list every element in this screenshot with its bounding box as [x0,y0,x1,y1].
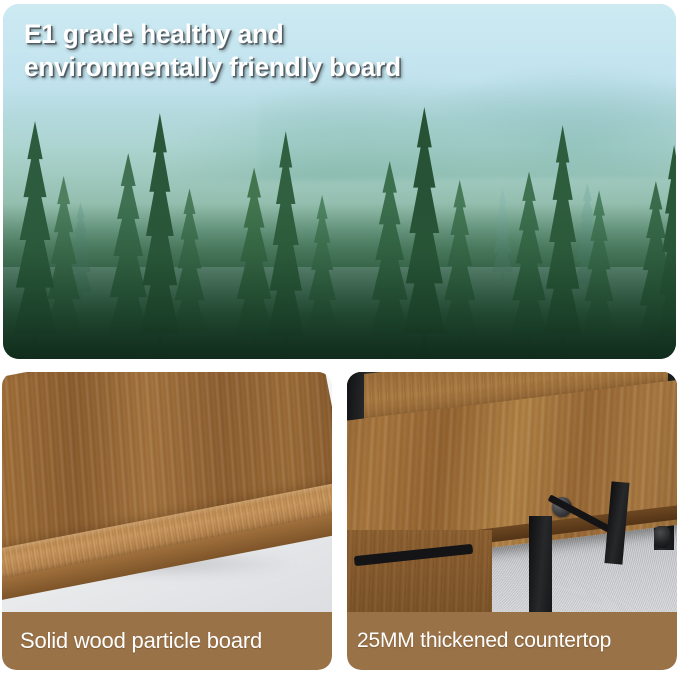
board-photo [2,372,332,612]
title-line-2: environmentally friendly board [24,51,625,84]
feature-card-thickened-countertop: 25MM thickened countertop [347,372,677,670]
feature-panels: Solid wood particle board [0,368,679,674]
caption-text-left: Solid wood particle board [2,628,262,654]
desk-leg-center [529,516,552,612]
desk-photo [347,372,677,612]
caption-bar-left: Solid wood particle board [2,612,332,670]
product-feature-graphic: E1 grade healthy and environmentally fri… [0,0,679,674]
forest-banner: E1 grade healthy and environmentally fri… [3,4,676,359]
caster-wheel [654,526,670,548]
forest-shadow-layer [3,203,676,359]
page-title: E1 grade healthy and environmentally fri… [24,18,625,84]
title-line-1: E1 grade healthy and [24,18,625,51]
feature-card-solid-wood-particle-board: Solid wood particle board [2,372,332,670]
caption-text-right: 25MM thickened countertop [347,629,611,653]
desk-front-panel [347,530,492,612]
caption-bar-right: 25MM thickened countertop [347,612,677,670]
